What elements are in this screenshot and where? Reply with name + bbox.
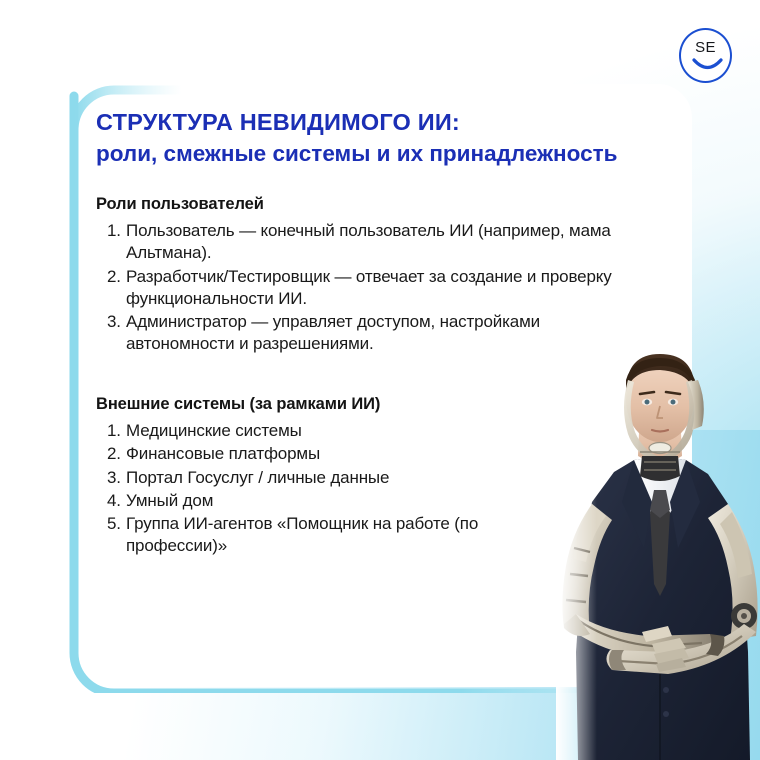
list-item-number: 5. <box>96 513 126 535</box>
list-item-number: 4. <box>96 490 126 512</box>
list-item: 1. Пользователь — конечный пользователь … <box>96 220 652 265</box>
brand-logo-text: SE <box>681 39 730 56</box>
list-item: 2. Разработчик/Тестировщик — отвечает за… <box>96 266 652 311</box>
list-item-number: 2. <box>96 266 126 288</box>
smile-arc-icon <box>692 58 723 74</box>
list-item: 3. Администратор — управляет доступом, н… <box>96 311 652 356</box>
page-title-line2: роли, смежные системы и их принадлежност… <box>96 140 652 168</box>
list-item-number: 1. <box>96 420 126 442</box>
slide-root: SE СТРУКТУРА НЕВИДИМОГО ИИ: роли, смежны… <box>0 0 760 760</box>
list-item-text: Пользователь — конечный пользователь ИИ … <box>126 220 652 264</box>
page-title: СТРУКТУРА НЕВИДИМОГО ИИ: роли, смежные с… <box>96 108 652 168</box>
section-user-roles: Роли пользователей 1. Пользователь — кон… <box>96 194 652 356</box>
section-heading: Роли пользователей <box>96 194 652 215</box>
list-item-number: 2. <box>96 443 126 465</box>
cyborg-businessman-illustration <box>556 352 760 760</box>
list-item-text: Администратор — управляет доступом, наст… <box>126 311 652 355</box>
brand-logo[interactable]: SE <box>679 28 732 83</box>
ordered-list-user-roles: 1. Пользователь — конечный пользователь … <box>96 220 652 356</box>
list-item-number: 3. <box>96 467 126 489</box>
list-item-number: 1. <box>96 220 126 242</box>
page-title-line1: СТРУКТУРА НЕВИДИМОГО ИИ: <box>96 108 652 138</box>
list-item-number: 3. <box>96 311 126 333</box>
list-item-text: Группа ИИ-агентов «Помощник на работе (п… <box>126 513 518 557</box>
list-item-text: Разработчик/Тестировщик — отвечает за со… <box>126 266 652 310</box>
